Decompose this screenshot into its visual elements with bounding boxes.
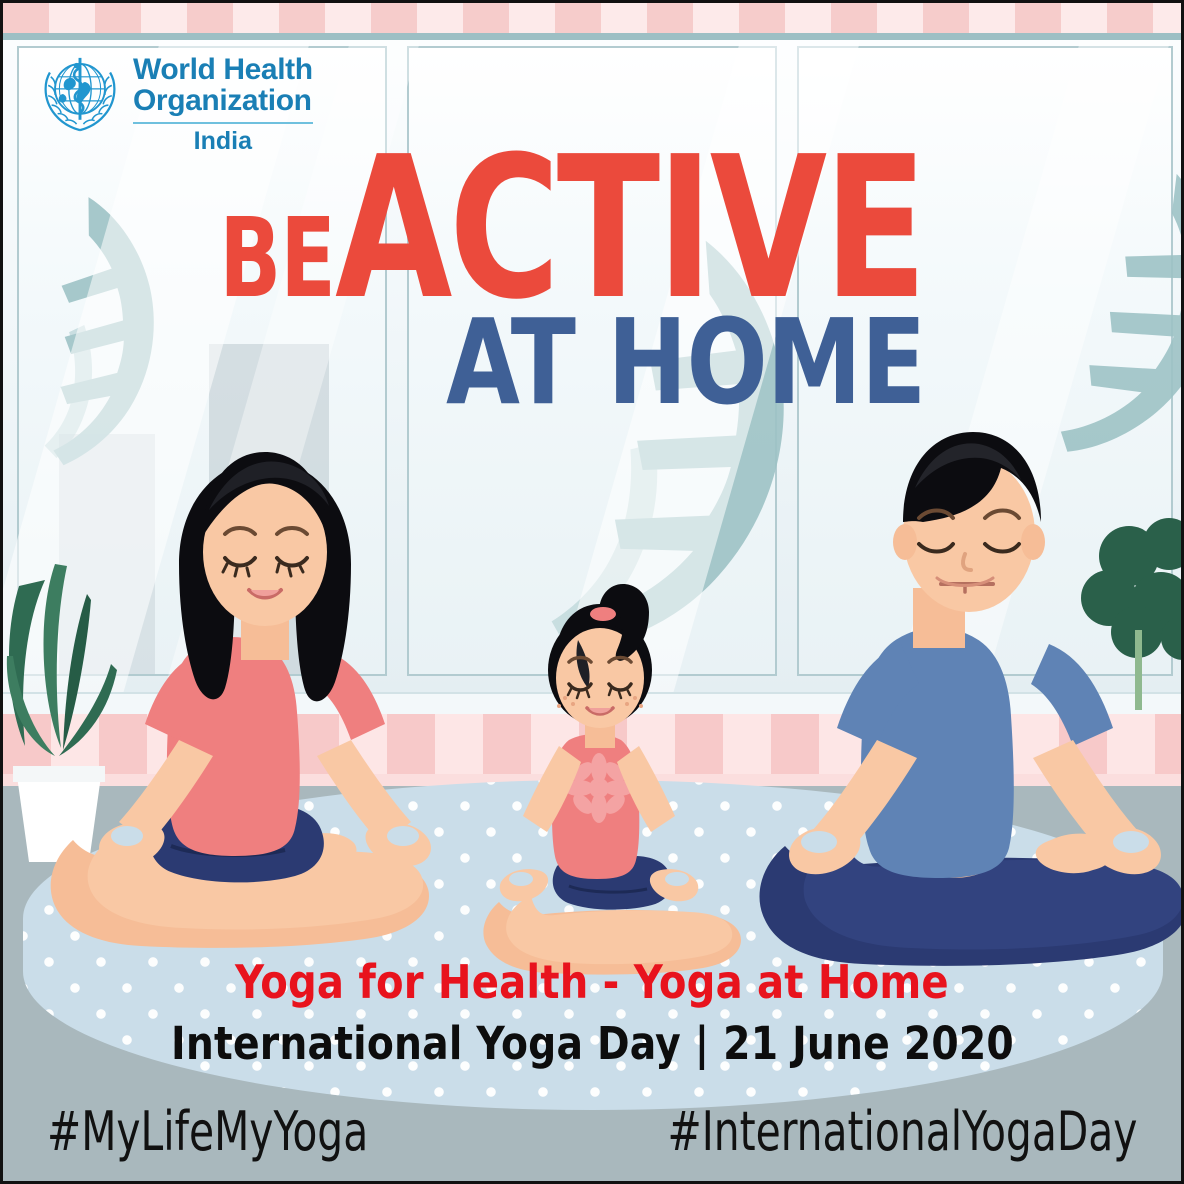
top-tile-strip — [3, 3, 1181, 33]
tagline-text: Yoga for Health - Yoga at Home — [235, 955, 949, 1009]
hair-tie — [590, 607, 616, 621]
who-name-line-2: Organization — [133, 86, 313, 117]
event-line: International Yoga Day | 21 June 2020 — [3, 1009, 1181, 1070]
caption-block: Yoga for Health - Yoga at Home Internati… — [3, 955, 1181, 1070]
top-strip-divider — [3, 33, 1181, 40]
hashtag-bar: #MyLifeMyYoga #InternationalYogaDay — [3, 1075, 1181, 1184]
who-emblem-icon — [37, 51, 123, 142]
who-country-label: India — [133, 127, 313, 156]
poster-canvas: Yoga for Health - Yoga at Home Internati… — [0, 0, 1184, 1184]
who-name-line-1: World Health — [133, 55, 313, 86]
mudra-hand-left — [500, 869, 548, 901]
figure-man — [759, 432, 1181, 966]
figure-girl — [483, 584, 741, 975]
illustration-scene: Yoga for Health - Yoga at Home Internati… — [3, 40, 1181, 1184]
figure-woman — [51, 452, 431, 948]
tagline: Yoga for Health - Yoga at Home — [3, 955, 1181, 1009]
who-logo-lockup: World Health Organization India — [37, 51, 313, 156]
event-text: International Yoga Day | 21 June 2020 — [171, 1017, 1014, 1070]
who-wordmark: World Health Organization India — [133, 51, 313, 156]
who-divider — [133, 122, 313, 124]
hashtag-my-life-my-yoga: #MyLifeMyYoga — [47, 1100, 368, 1163]
hashtag-international-yoga-day: #InternationalYogaDay — [667, 1100, 1137, 1163]
